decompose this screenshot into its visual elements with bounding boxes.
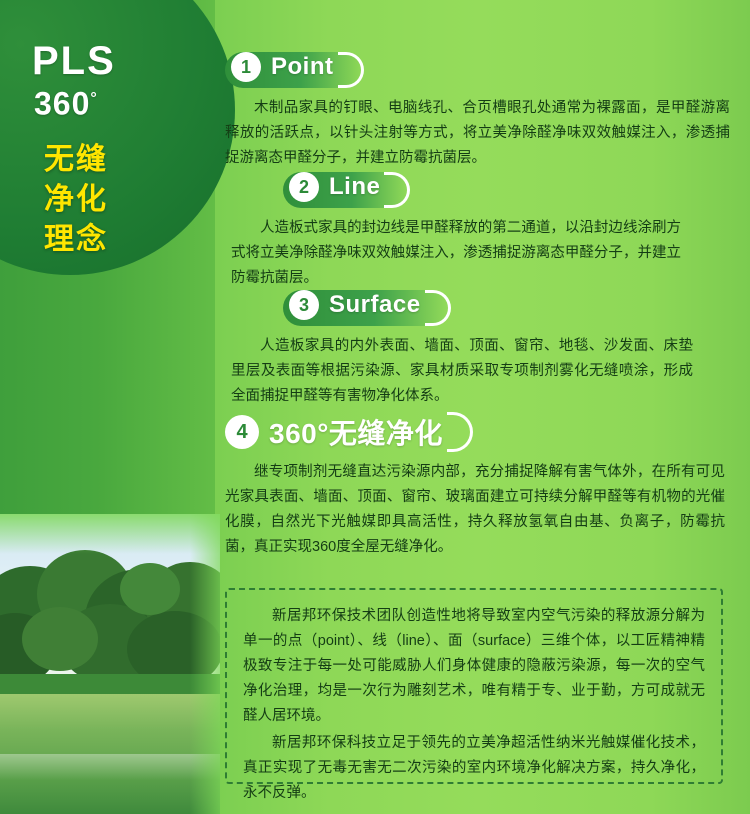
section-1-title: Point [271, 53, 334, 81]
section-2-title: Line [329, 173, 380, 201]
footer-paragraph-2: 新居邦环保科技立足于领先的立美净超活性纳米光触媒催化技术，真正实现了无毒无害无二… [243, 731, 705, 806]
section-2-text: 人造板式家具的封边线是甲醛释放的第二通道，以沿封边线涂刷方式将立美净除醛净味双效… [231, 216, 681, 291]
section-1-number: 1 [231, 52, 261, 82]
section-3-text: 人造板家具的内外表面、墙面、顶面、窗帘、地毯、沙发面、床垫里层及表面等根据污染源… [231, 334, 693, 409]
section-point: 1Point 木制品家具的钉眼、电脑线孔、合页槽眼孔处通常为裸露面，是甲醛游离释… [225, 52, 745, 171]
brand-slogan: 无缝净化理念 [44, 140, 114, 260]
section-surface: 3Surface 人造板家具的内外表面、墙面、顶面、窗帘、地毯、沙发面、床垫里层… [283, 290, 750, 409]
footer-paragraph-1: 新居邦环保技术团队创造性地将导致室内空气污染的释放源分解为单一的点（point）… [243, 604, 705, 729]
section-4-header: 4360°无缝净化 [225, 412, 471, 452]
photo-right-fade [190, 514, 220, 814]
section-4-text: 继专项制剂无缝直达污染源内部，充分捕捉降解有害气体外，在所有可见光家具表面、墙面… [225, 460, 725, 560]
section-4-title: 360°无缝净化 [269, 412, 443, 452]
section-360: 4360°无缝净化 继专项制剂无缝直达污染源内部，充分捕捉降解有害气体外，在所有… [225, 412, 745, 560]
section-1-header: 1Point [225, 52, 362, 88]
section-3-number: 3 [289, 290, 319, 320]
section-3-pill-cap [425, 290, 451, 326]
section-2-number: 2 [289, 172, 319, 202]
footer-dashed-box: 新居邦环保技术团队创造性地将导致室内空气污染的释放源分解为单一的点（point）… [225, 588, 723, 784]
section-4-number: 4 [225, 415, 259, 449]
section-4-pill-cap [447, 412, 473, 452]
nature-photo [0, 514, 220, 814]
section-1-pill-cap [338, 52, 364, 88]
brand-logo: PLS 360° [32, 40, 202, 121]
degree-symbol: ° [90, 90, 97, 107]
grass-highlight [0, 754, 220, 780]
section-3-title: Surface [329, 291, 421, 319]
section-2-pill-cap [384, 172, 410, 208]
brand-number-value: 360 [34, 86, 90, 122]
section-3-header: 3Surface [283, 290, 449, 326]
brand-number: 360° [34, 82, 202, 121]
section-2-header: 2Line [283, 172, 408, 208]
brand-name: PLS [32, 40, 202, 82]
poster-page: PLS 360° 无缝净化理念 1Point 木制品家具的钉眼、电脑线孔、合页槽… [0, 0, 750, 814]
photo-top-fade [0, 514, 220, 554]
section-1-text: 木制品家具的钉眼、电脑线孔、合页槽眼孔处通常为裸露面，是甲醛游离释放的活跃点，以… [225, 96, 730, 171]
section-line: 2Line 人造板式家具的封边线是甲醛释放的第二通道，以沿封边线涂刷方式将立美净… [283, 172, 750, 291]
